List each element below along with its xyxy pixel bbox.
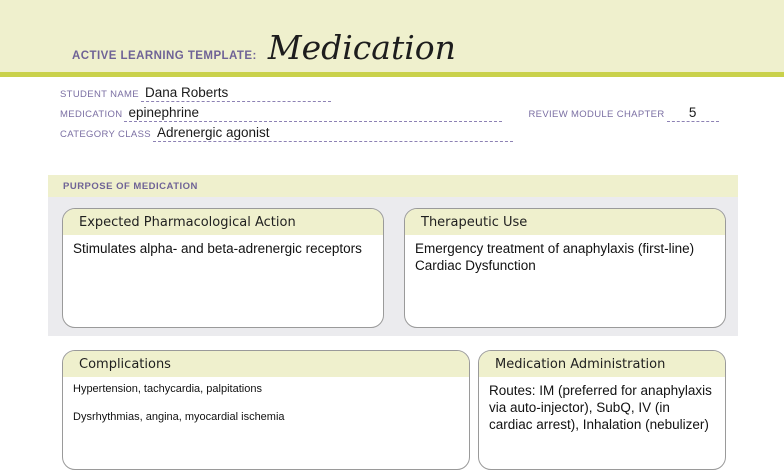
therapeutic-use-title: Therapeutic Use xyxy=(421,215,527,230)
medication-administration-body[interactable]: Routes: IM (preferred for anaphylaxis vi… xyxy=(479,377,725,439)
category-class-value: Adrenergic agonist xyxy=(157,125,270,140)
category-class-label: CATEGORY CLASS xyxy=(60,129,151,142)
medication-administration-text: Routes: IM (preferred for anaphylaxis vi… xyxy=(489,382,715,433)
purpose-section-title: PURPOSE OF MEDICATION xyxy=(63,181,198,192)
student-name-label: STUDENT NAME xyxy=(60,89,139,102)
medication-administration-header: Medication Administration xyxy=(479,351,725,377)
review-module-chapter-value: 5 xyxy=(667,105,719,120)
therapeutic-use-body[interactable]: Emergency treatment of anaphylaxis (firs… xyxy=(405,235,725,280)
expected-pharmacological-action-body[interactable]: Stimulates alpha- and beta-adrenergic re… xyxy=(63,235,383,263)
therapeutic-use-box: Therapeutic Use Emergency treatment of a… xyxy=(404,208,726,328)
medication-value: epinephrine xyxy=(128,105,199,120)
complications-line: Hypertension, tachycardia, palpitations xyxy=(73,382,459,397)
category-class-row: CATEGORY CLASS Adrenergic agonist xyxy=(0,122,784,142)
medication-administration-title: Medication Administration xyxy=(495,357,665,372)
expected-pharmacological-action-text: Stimulates alpha- and beta-adrenergic re… xyxy=(73,240,373,257)
expected-pharmacological-action-box: Expected Pharmacological Action Stimulat… xyxy=(62,208,384,328)
review-module-chapter-input[interactable]: 5 xyxy=(667,104,719,122)
student-name-value: Dana Roberts xyxy=(145,85,228,100)
student-name-input[interactable]: Dana Roberts xyxy=(141,84,331,102)
complications-body[interactable]: Hypertension, tachycardia, palpitations … xyxy=(63,377,469,431)
student-name-row: STUDENT NAME Dana Roberts xyxy=(0,82,784,102)
complications-box: Complications Hypertension, tachycardia,… xyxy=(62,350,470,470)
review-module-chapter-label: REVIEW MODULE CHAPTER xyxy=(528,109,664,122)
medication-label: MEDICATION xyxy=(60,109,122,122)
student-info-fields: STUDENT NAME Dana Roberts MEDICATION epi… xyxy=(0,82,784,142)
therapeutic-use-line: Cardiac Dysfunction xyxy=(415,257,715,274)
page-title: Medication xyxy=(268,31,456,64)
expected-pharmacological-action-header: Expected Pharmacological Action xyxy=(63,209,383,235)
complications-header: Complications xyxy=(63,351,469,377)
medication-row: MEDICATION epinephrine REVIEW MODULE CHA… xyxy=(0,102,784,122)
complications-line: Dysrhythmias, angina, myocardial ischemi… xyxy=(73,410,459,425)
purpose-section-header: PURPOSE OF MEDICATION xyxy=(48,175,738,197)
category-class-input[interactable]: Adrenergic agonist xyxy=(153,124,513,142)
template-kicker-label: ACTIVE LEARNING TEMPLATE: xyxy=(72,50,257,62)
expected-pharmacological-action-title: Expected Pharmacological Action xyxy=(79,215,296,230)
medication-administration-box: Medication Administration Routes: IM (pr… xyxy=(478,350,726,470)
header-title-group: ACTIVE LEARNING TEMPLATE: Medication xyxy=(72,31,456,64)
medication-input[interactable]: epinephrine xyxy=(124,104,502,122)
therapeutic-use-header: Therapeutic Use xyxy=(405,209,725,235)
therapeutic-use-line: Emergency treatment of anaphylaxis (firs… xyxy=(415,240,715,257)
complications-title: Complications xyxy=(79,357,171,372)
page-header-banner: ACTIVE LEARNING TEMPLATE: Medication xyxy=(0,0,784,77)
